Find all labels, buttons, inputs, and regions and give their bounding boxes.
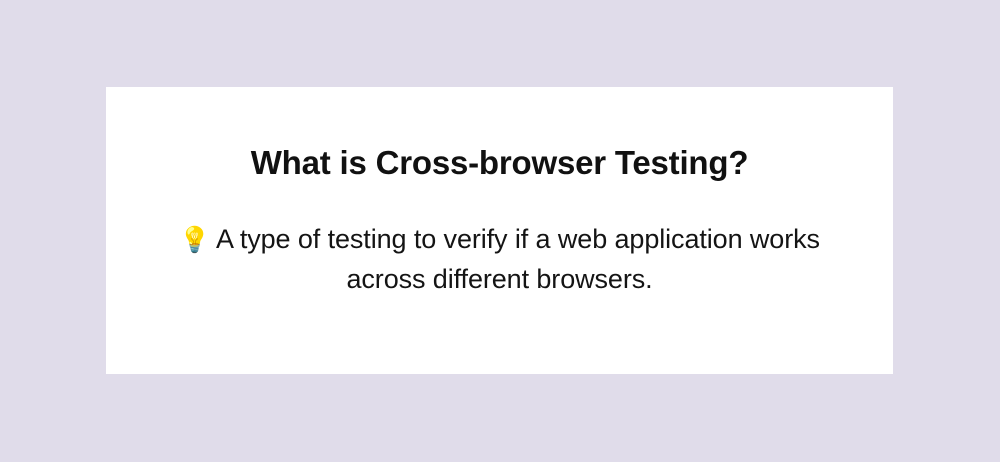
card-title: What is Cross-browser Testing?: [106, 143, 893, 183]
card-body-text: 💡 A type of testing to verify if a web a…: [146, 219, 853, 299]
card-body-copy: A type of testing to verify if a web app…: [210, 224, 820, 294]
slide-canvas: What is Cross-browser Testing? 💡 A type …: [0, 0, 1000, 462]
card-title-lead: What is: [251, 144, 376, 181]
card-title-emphasis: Cross-browser Testing?: [376, 144, 749, 181]
definition-card: What is Cross-browser Testing? 💡 A type …: [106, 87, 893, 374]
lightbulb-icon: 💡: [179, 228, 210, 253]
